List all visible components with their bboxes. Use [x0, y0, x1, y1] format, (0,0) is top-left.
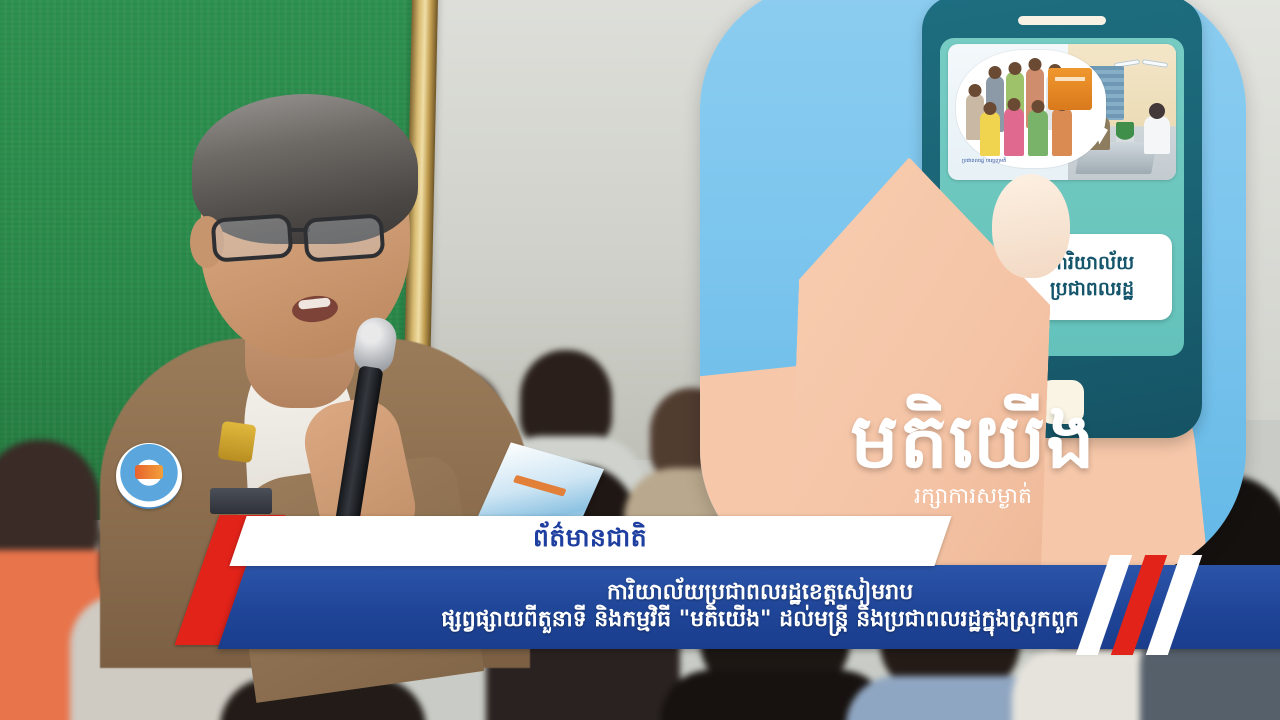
app-logo: ប្រជាពលរដ្ឋ បញ្ចេញមតិ ការិយាល័យ ប្រជាពលរ…: [700, 0, 1246, 578]
headline-line-1: ការិយាល័យប្រជាពលរដ្ឋខេត្តសៀមរាប: [607, 580, 913, 607]
banner-category-label: ព័ត៌មានជាតិ: [229, 516, 951, 566]
screen-illustration: ប្រជាពលរដ្ឋ បញ្ចេញមតិ: [948, 44, 1176, 180]
crowd-figures: [966, 64, 1086, 158]
ballot-box-icon: [1048, 68, 1092, 110]
illustration-caption: ប្រជាពលរដ្ឋ បញ្ចេញមតិ: [962, 158, 1006, 164]
screen-label-line2: ប្រជាពលរដ្ឋ: [1050, 277, 1134, 303]
shoulder-badge-icon: [116, 443, 182, 509]
epaulette-icon: [218, 421, 257, 463]
speech-bubble-icon: ប្រជាពលរដ្ឋ បញ្ចេញមតិ: [956, 50, 1106, 168]
screenshot-stage: ប្រជាពលរដ្ឋ បញ្ចេញមតិ ការិយាល័យ ប្រជាពលរ…: [0, 0, 1280, 720]
lower-third-banner: ព័ត៌មានជាតិ ការិយាល័យប្រជាពលរដ្ឋខេត្តសៀម…: [0, 505, 1280, 655]
headline-line-2: ផ្សព្វផ្សាយពីតួនាទី និងកម្មវិធី "មតិយើង"…: [441, 607, 1079, 634]
phone-speaker-icon: [1018, 16, 1106, 25]
banner-category-text: ព័ត៌មានជាតិ: [533, 523, 647, 559]
thumb-nail: [992, 174, 1070, 278]
eyeglasses-icon: [212, 216, 398, 260]
citizen-figure: [1144, 116, 1170, 154]
